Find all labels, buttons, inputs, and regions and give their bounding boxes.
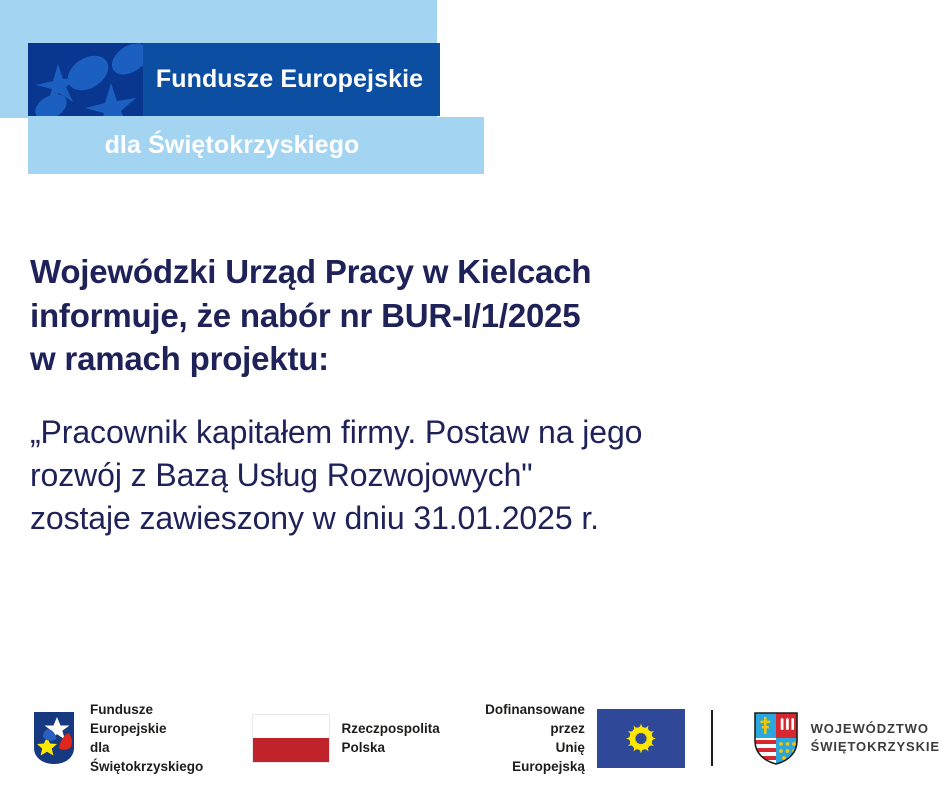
footer-logo-unia-europejska: Dofinansowane przez Unię Europejską [482,708,685,768]
footer-logo-fundusze-europejskie: Fundusze Europejskie dla Świętokrzyskieg… [30,708,204,768]
footer-label-fundusze-europejskie: Fundusze Europejskie dla Świętokrzyskieg… [90,700,204,777]
star-pattern-icon [28,43,143,116]
footer-logo-wojewodztwo-swietokrzyskie: WOJEWÓDZTWO ŚWIĘTOKRZYSKIE [753,708,940,768]
header-logo-block: Fundusze Europejskie dla Świętokrzyskieg… [0,0,484,174]
footer-logo-rzeczpospolita-polska: Rzeczpospolita Polska [252,708,440,768]
eu-funds-stars-icon [30,710,78,766]
poland-flag-icon [252,714,330,763]
header-logo-subtitle: dla Świętokrzyskiego [28,117,440,174]
main-content: Wojewódzki Urząd Pracy w Kielcach inform… [30,250,890,540]
swietokrzyskie-coat-of-arms-icon [753,711,799,766]
announcement-headline: Wojewódzki Urząd Pracy w Kielcach inform… [30,250,890,381]
footer-label-rzeczpospolita-polska: Rzeczpospolita Polska [342,719,440,757]
footer-label-unia-europejska: Dofinansowane przez Unię Europejską [482,700,585,777]
header-logo-title: Fundusze Europejskie [143,43,440,116]
announcement-body: „Pracownik kapitałem firmy. Postaw na je… [30,411,890,541]
footer-divider [711,710,713,766]
header-dark-box: Fundusze Europejskie [28,43,440,116]
footer-logo-bar: Fundusze Europejskie dla Świętokrzyskieg… [0,688,940,788]
eu-flag-icon [597,709,685,768]
footer-label-wojewodztwo-swietokrzyskie: WOJEWÓDZTWO ŚWIĘTOKRZYSKIE [811,720,940,757]
